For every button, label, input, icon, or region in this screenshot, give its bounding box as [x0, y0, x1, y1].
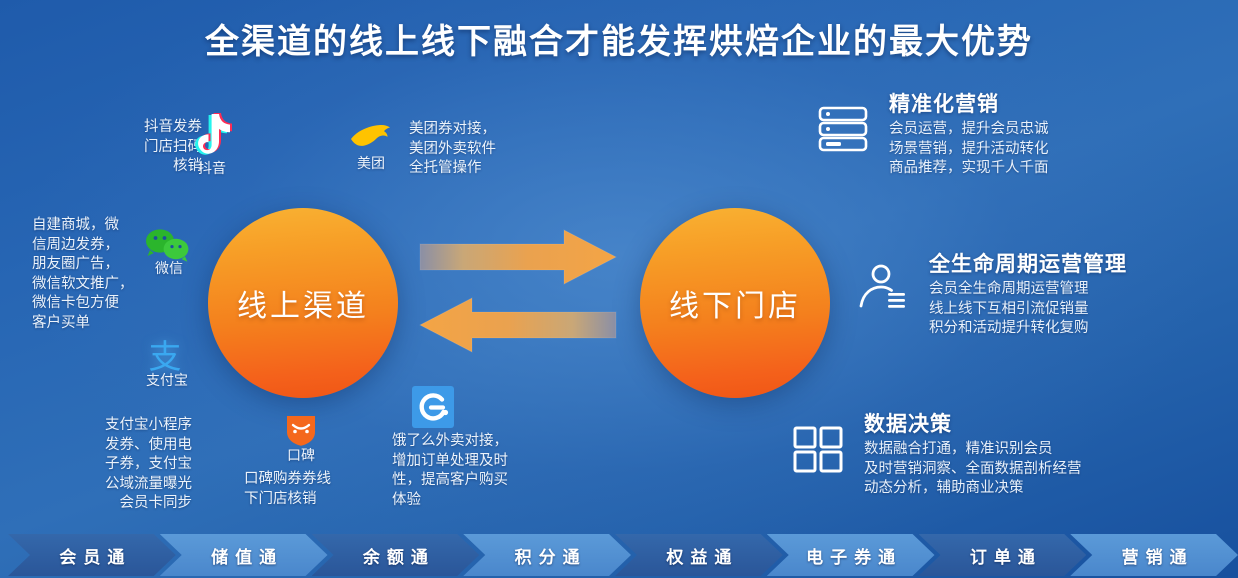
feature-precision-marketing: 精准化营销 会员运营，提升会员忠诚 场景营销，提升活动转化 商品推荐，实现千人千…	[815, 92, 1235, 179]
chevron-tab-3[interactable]: 余额通	[312, 534, 480, 576]
chevron-tab-5[interactable]: 权益通	[615, 534, 783, 576]
chevron-tab-2[interactable]: 储值通	[160, 534, 328, 576]
chevron-tab-4[interactable]: 积分通	[463, 534, 631, 576]
douyin-icon	[191, 110, 235, 156]
feature-title-lifecycle-management: 全生命周期运营管理	[929, 252, 1127, 278]
chevron-tab-8[interactable]: 营销通	[1070, 534, 1238, 576]
channel-brand-weixin: 微信	[139, 260, 199, 276]
arrow-left-icon	[418, 296, 618, 354]
wechat-icon	[145, 228, 191, 264]
feature-lifecycle-management: 全生命周期运营管理 会员全生命周期运营管理 线上线下互相引流促销量 积分和活动提…	[855, 252, 1238, 339]
server-stack-icon	[815, 100, 871, 156]
channel-brand-douyin: 抖音	[182, 160, 242, 176]
user-profile-icon	[855, 260, 911, 316]
alipay-icon: 支	[139, 338, 191, 376]
feature-lines-lifecycle-management: 会员全生命周期运营管理 线上线下互相引流促销量 积分和活动提升转化复购	[929, 280, 1127, 339]
chevron-tab-6[interactable]: 电子券通	[767, 534, 935, 576]
feature-title-precision-marketing: 精准化营销	[889, 92, 1049, 118]
channel-text-eleme: 饿了么外卖对接， 增加订单处理及时 性，提高客户购买 体验	[392, 432, 560, 510]
grid-squares-icon	[790, 420, 846, 476]
arrow-right-icon	[418, 228, 618, 286]
bottom-chevron-bar: 会员通储值通余额通积分通权益通电子券通订单通营销通	[0, 532, 1238, 578]
channel-brand-koubei: 口碑	[271, 447, 331, 463]
feature-title-data-decision: 数据决策	[864, 412, 1082, 438]
offline-store-label: 线下门店	[669, 281, 801, 325]
channel-text-alipay: 支付宝小程序 发券、使用电 子券，支付宝 公域流量曝光 会员卡同步	[50, 416, 192, 514]
feature-data-decision: 数据决策 数据融合打通，精准识别会员 及时营销洞察、全面数据剖析经营 动态分析，…	[790, 412, 1235, 499]
feature-lines-precision-marketing: 会员运营，提升会员忠诚 场景营销，提升活动转化 商品推荐，实现千人千面	[889, 120, 1049, 179]
chevron-tab-1[interactable]: 会员通	[8, 534, 176, 576]
channel-brand-meituan: 美团	[341, 155, 401, 171]
meituan-icon	[348, 122, 394, 154]
slide-canvas: 全渠道的线上线下融合才能发挥烘焙企业的最大优势 线上渠道 线下门店	[0, 0, 1238, 578]
offline-store-circle: 线下门店	[640, 208, 830, 398]
channel-text-meituan: 美团券对接， 美团外卖软件 全托管操作	[409, 120, 569, 179]
chevron-tab-7[interactable]: 订单通	[919, 534, 1087, 576]
koubei-icon	[283, 412, 319, 448]
channel-brand-alipay: 支付宝	[135, 372, 199, 388]
online-channel-label: 线上渠道	[237, 281, 369, 325]
channel-text-koubei: 口碑购券券线 下门店核销	[244, 470, 384, 509]
feature-lines-data-decision: 数据融合打通，精准识别会员 及时营销洞察、全面数据剖析经营 动态分析，辅助商业决…	[864, 440, 1082, 499]
online-channel-circle: 线上渠道	[208, 208, 398, 398]
eleme-icon	[412, 386, 454, 428]
page-title: 全渠道的线上线下融合才能发挥烘焙企业的最大优势	[0, 14, 1238, 63]
